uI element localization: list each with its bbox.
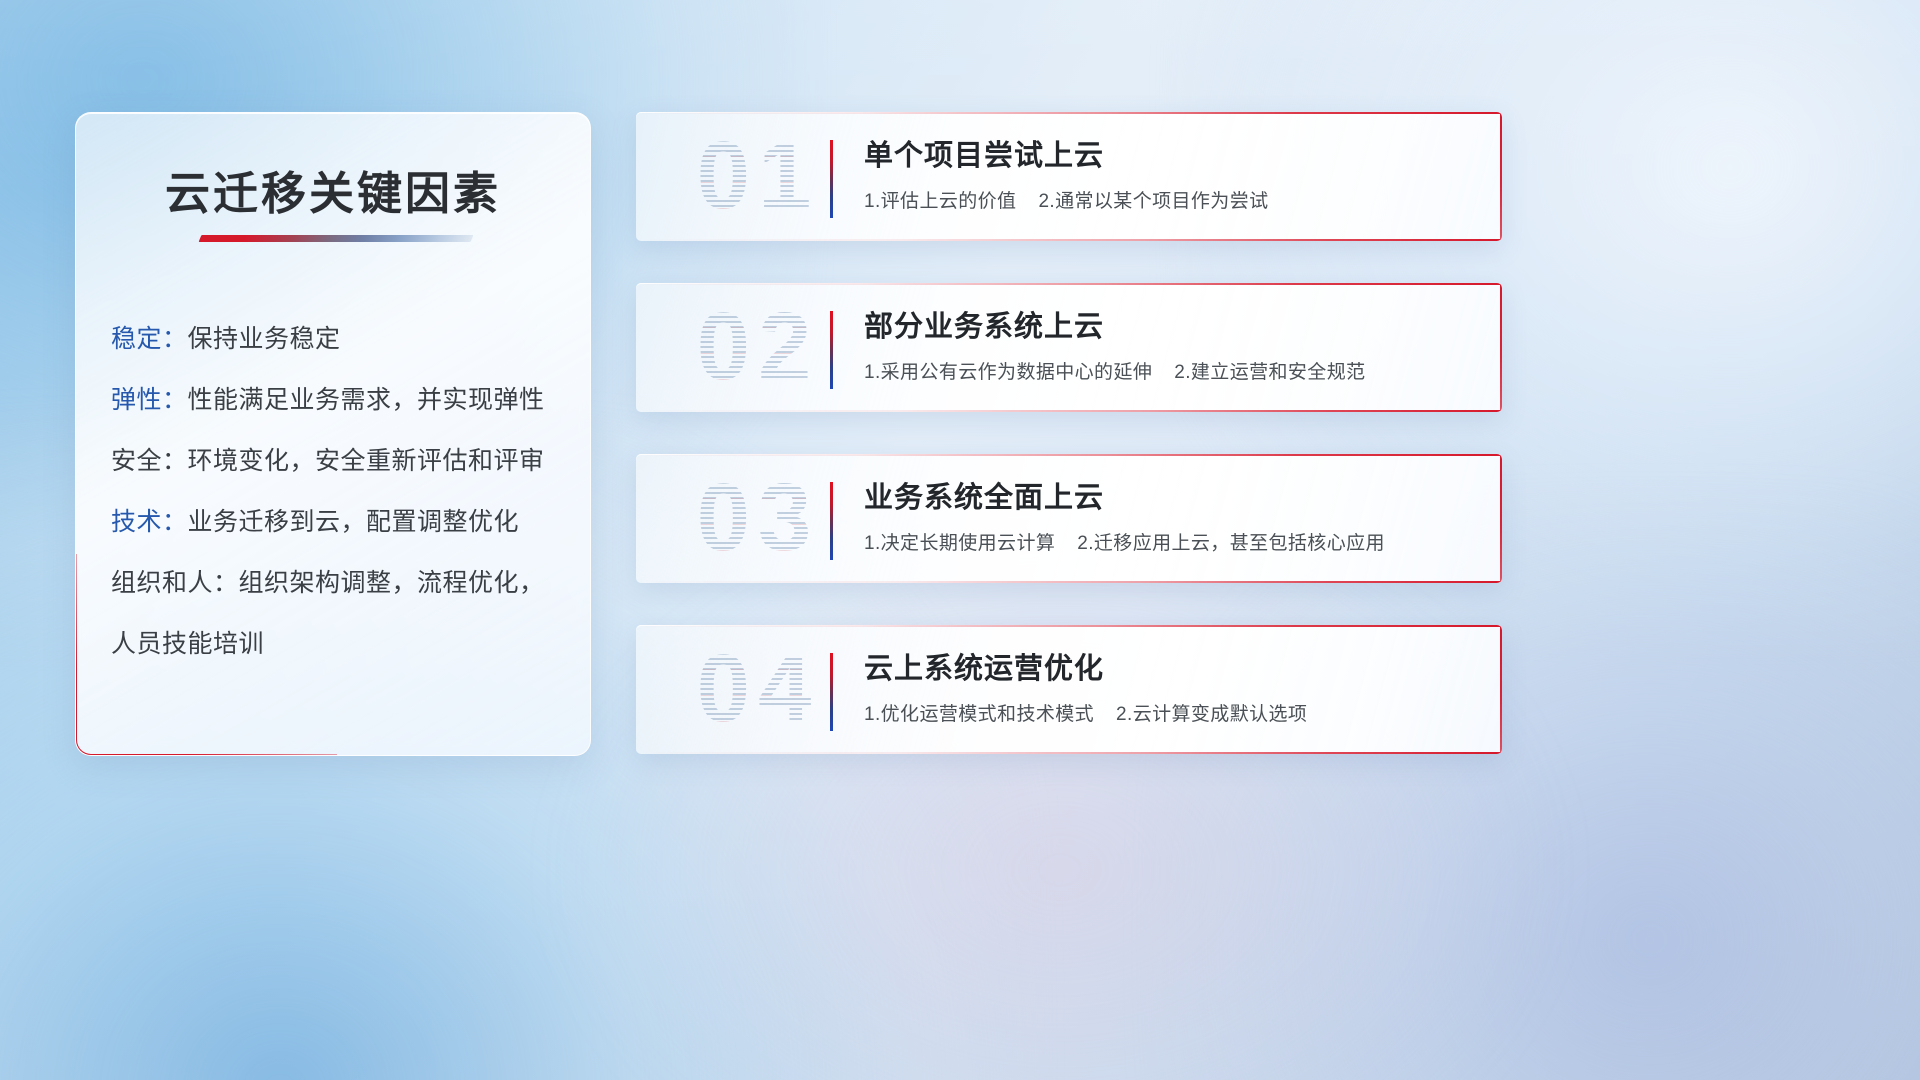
key-factors-list: 稳定：保持业务稳定 弹性：性能满足业务需求，并实现弹性 安全：环境变化，安全重新… (111, 309, 564, 675)
stage-number-echo: 02 (658, 291, 858, 403)
card-right-accent-line (1500, 112, 1502, 241)
card-top-accent-line (636, 454, 1502, 456)
card-description-item-2: 2.迁移应用上云，甚至包括核心应用 (1077, 533, 1385, 554)
card-description: 1.采用公有云作为数据中心的延伸2.建立运营和安全规范 (864, 360, 1472, 386)
card-title: 部分业务系统上云 (864, 307, 1472, 347)
card-bottom-accent-line (636, 410, 1502, 412)
list-item: 技术：业务迁移到云，配置调整优化 (111, 492, 564, 553)
factor-text: 业务迁移到云，配置调整优化 (188, 508, 520, 536)
card-divider-bar (830, 482, 833, 560)
card-top-accent-line (636, 625, 1502, 627)
factor-label: 安全： (111, 447, 188, 475)
page-title: 云迁移关键因素 (76, 157, 590, 222)
slide-stage: 云迁移关键因素 稳定：保持业务稳定 弹性：性能满足业务需求，并实现弹性 安全：环… (0, 0, 1920, 1080)
card-description-item-1: 1.决定长期使用云计算 (864, 533, 1055, 554)
title-underline-rule (199, 235, 474, 242)
card-top-accent-line (636, 283, 1502, 285)
stage-number-echo: 03 (658, 462, 858, 574)
factor-label: 组织和人： (111, 569, 239, 597)
card-body: 部分业务系统上云 1.采用公有云作为数据中心的延伸2.建立运营和安全规范 (864, 307, 1472, 386)
list-item: 弹性：性能满足业务需求，并实现弹性 (111, 370, 564, 431)
factor-label: 稳定： (111, 325, 188, 353)
card-right-accent-line (1500, 283, 1502, 412)
card-description: 1.评估上云的价值2.通常以某个项目作为尝试 (864, 189, 1472, 215)
card-right-accent-line (1500, 625, 1502, 754)
card-description-item-1: 1.采用公有云作为数据中心的延伸 (864, 362, 1152, 383)
stage-card[interactable]: 04 04 云上系统运营优化 1.优化运营模式和技术模式2.云计算变成默认选项 (636, 625, 1502, 754)
card-right-accent-line (1500, 454, 1502, 583)
card-body: 业务系统全面上云 1.决定长期使用云计算2.迁移应用上云，甚至包括核心应用 (864, 478, 1472, 557)
migration-stage-cards: 01 01 单个项目尝试上云 1.评估上云的价值2.通常以某个项目作为尝试 02… (636, 112, 1502, 754)
factor-label: 技术： (111, 508, 188, 536)
card-divider-bar (830, 140, 833, 218)
card-description: 1.优化运营模式和技术模式2.云计算变成默认选项 (864, 702, 1472, 728)
stage-card[interactable]: 03 03 业务系统全面上云 1.决定长期使用云计算2.迁移应用上云，甚至包括核… (636, 454, 1502, 583)
list-item: 稳定：保持业务稳定 (111, 309, 564, 370)
stage-number-echo: 04 (658, 633, 858, 745)
card-divider-bar (830, 311, 833, 389)
factor-text: 组织架构调整，流程优化， (239, 569, 545, 597)
factor-text: 性能满足业务需求，并实现弹性 (188, 386, 545, 414)
list-item: 安全：环境变化，安全重新评估和评审 (111, 431, 564, 492)
card-description-item-1: 1.评估上云的价值 (864, 191, 1016, 212)
stage-number-echo: 01 (658, 120, 858, 232)
card-bottom-accent-line (636, 239, 1502, 241)
card-title: 云上系统运营优化 (864, 649, 1472, 689)
card-description-item-2: 2.通常以某个项目作为尝试 (1038, 191, 1268, 212)
card-body: 单个项目尝试上云 1.评估上云的价值2.通常以某个项目作为尝试 (864, 136, 1472, 215)
factor-text: 人员技能培训 (111, 630, 264, 658)
card-body: 云上系统运营优化 1.优化运营模式和技术模式2.云计算变成默认选项 (864, 649, 1472, 728)
card-top-accent-line (636, 112, 1502, 114)
factor-text: 环境变化，安全重新评估和评审 (188, 447, 545, 475)
stage-card[interactable]: 01 01 单个项目尝试上云 1.评估上云的价值2.通常以某个项目作为尝试 (636, 112, 1502, 241)
card-description: 1.决定长期使用云计算2.迁移应用上云，甚至包括核心应用 (864, 531, 1472, 557)
card-bottom-accent-line (636, 581, 1502, 583)
stage-card[interactable]: 02 02 部分业务系统上云 1.采用公有云作为数据中心的延伸2.建立运营和安全… (636, 283, 1502, 412)
card-title: 单个项目尝试上云 (864, 136, 1472, 176)
card-bottom-accent-line (636, 752, 1502, 754)
list-item: 组织和人：组织架构调整，流程优化， (111, 553, 564, 614)
factor-label: 弹性： (111, 386, 188, 414)
card-description-item-2: 2.云计算变成默认选项 (1116, 704, 1307, 725)
card-divider-bar (830, 653, 833, 731)
card-description-item-1: 1.优化运营模式和技术模式 (864, 704, 1094, 725)
factor-text: 保持业务稳定 (188, 325, 341, 353)
card-description-item-2: 2.建立运营和安全规范 (1174, 362, 1365, 383)
list-item-continuation: 人员技能培训 (111, 614, 564, 675)
key-factors-panel: 云迁移关键因素 稳定：保持业务稳定 弹性：性能满足业务需求，并实现弹性 安全：环… (75, 112, 591, 756)
card-title: 业务系统全面上云 (864, 478, 1472, 518)
